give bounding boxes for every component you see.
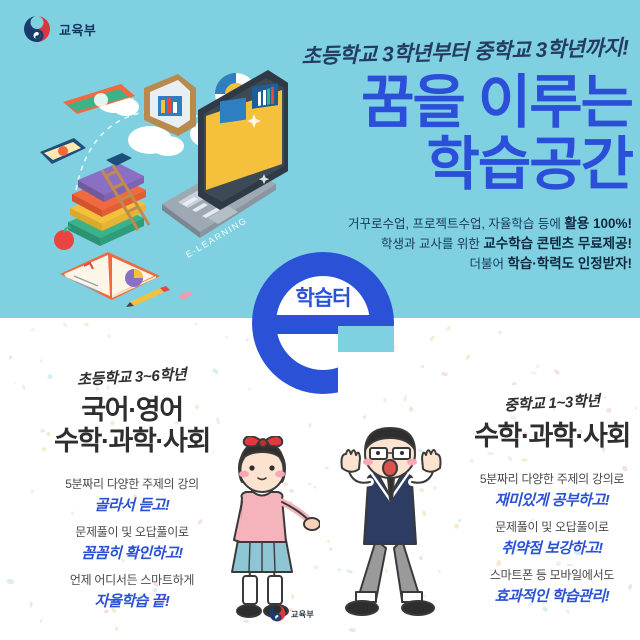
ministry-logo-bottom[interactable]: 교육부 — [268, 604, 314, 623]
boy-character — [332, 424, 450, 628]
column-middle-body-line-plain: 문제풀이 및 오답풀이로 — [432, 518, 640, 537]
e-learning-badge[interactable]: 학습터 — [252, 252, 394, 394]
column-middle-kicker: 중학교 1~3학년 — [504, 390, 601, 416]
column-middle-body: 5분짜리 다양한 주제의 강의로재미있게 공부하고!문제풀이 및 오답풀이로취약… — [432, 470, 640, 609]
column-middle-body-line-accent: 재미있게 공부하고! — [432, 489, 640, 513]
hero-title: 꿈을 이루는 학습공간 — [300, 72, 632, 196]
hero-subtitle-line: 거꾸로수업, 프로젝트수업, 자율학습 등에 활용 100%! — [320, 214, 632, 234]
badge-opening-lower — [338, 352, 394, 398]
column-middle-title: 수학·과학·사회 — [432, 421, 640, 452]
poster-root: 교육부 — [0, 0, 640, 640]
hero-title-line2: 학습공간 — [300, 134, 632, 196]
ministry-logo-top[interactable]: 교육부 — [22, 14, 96, 44]
column-middle-title-line1: 수학·과학·사회 — [474, 421, 630, 451]
e-learning-illustration: E-LEARNING — [18, 62, 288, 324]
hero-subtitle-plain: 더불어 — [469, 257, 507, 271]
hero-subtitle-bold: 학습·학력도 인정받자! — [507, 256, 632, 271]
hero-subtitle-plain: 거꾸로수업, 프로젝트수업, 자율학습 등에 — [348, 217, 564, 231]
hero-title-line1: 꿈을 이루는 — [361, 70, 632, 135]
hair-bow-icon — [244, 436, 283, 447]
column-middle-body-line-plain: 스마트폰 등 모바일에서도 — [432, 566, 640, 585]
column-elementary-title-line1: 국어·영어 — [81, 395, 182, 425]
girl-character — [216, 436, 320, 628]
ministry-name-label: 교육부 — [59, 20, 96, 39]
badge-service-label: 학습터 — [252, 282, 394, 312]
taeguk-icon — [22, 14, 52, 44]
ministry-name-label-bottom: 교육부 — [291, 607, 314, 619]
hero-subtitle-bold: 활용 100%! — [564, 216, 632, 231]
hero-subtitle-line: 학생과 교사를 위한 교수학습 콘텐츠 무료제공! — [320, 234, 632, 254]
column-middle-body-line-plain: 5분짜리 다양한 주제의 강의로 — [432, 470, 640, 489]
column-middle-body-line-accent: 취약점 보강하고! — [432, 537, 640, 561]
hero-subtitle-plain: 학생과 교사를 위한 — [381, 237, 483, 251]
hero-subtitle-bold: 교수학습 콘텐츠 무료제공! — [483, 236, 632, 251]
column-middle: 중학교 1~3학년 수학·과학·사회 5분짜리 다양한 주제의 강의로재미있게 … — [432, 392, 640, 614]
column-middle-body-line-accent: 효과적인 학습관리! — [432, 585, 640, 609]
column-elementary-kicker: 초등학교 3~6학년 — [77, 363, 187, 390]
taeguk-icon-bottom — [268, 604, 287, 623]
